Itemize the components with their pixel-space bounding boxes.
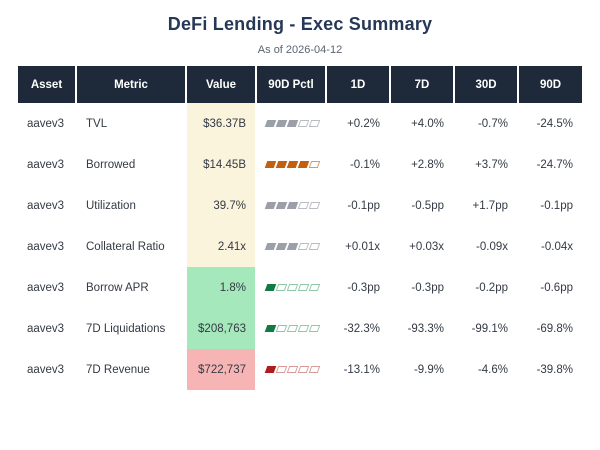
cell-delta-1d: -0.3pp (326, 267, 390, 308)
cell-value: 2.41x (186, 226, 256, 267)
cell-asset: aavev3 (18, 349, 76, 390)
percentile-box-filled (287, 243, 299, 250)
cell-asset: aavev3 (18, 144, 76, 185)
table-header-row: AssetMetricValue90D Pctl1D7D30D90D (18, 66, 582, 103)
percentile-box-empty (276, 325, 288, 332)
percentile-box-filled (265, 284, 277, 291)
cell-metric: Collateral Ratio (76, 226, 186, 267)
table-row: aavev3TVL$36.37B+0.2%+4.0%-0.7%-24.5% (18, 103, 582, 144)
cell-delta-30d: -99.1% (454, 308, 518, 349)
cell-delta-90d: -69.8% (518, 308, 582, 349)
cell-value: $36.37B (186, 103, 256, 144)
cell-delta-1d: -0.1% (326, 144, 390, 185)
cell-delta-90d: -0.1pp (518, 185, 582, 226)
cell-value: $722,737 (186, 349, 256, 390)
cell-value: 1.8% (186, 267, 256, 308)
percentile-box-empty (298, 325, 310, 332)
table-row: aavev3Borrow APR1.8%-0.3pp-0.3pp-0.2pp-0… (18, 267, 582, 308)
percentile-meter-icon (266, 161, 319, 168)
cell-value: $14.45B (186, 144, 256, 185)
cell-delta-30d: -4.6% (454, 349, 518, 390)
column-header-1d[interactable]: 1D (326, 66, 390, 103)
cell-delta-90d: -39.8% (518, 349, 582, 390)
cell-delta-7d: -93.3% (390, 308, 454, 349)
percentile-meter-icon (266, 284, 319, 291)
percentile-box-filled (276, 202, 288, 209)
percentile-box-empty (298, 366, 310, 373)
percentile-meter-icon (266, 202, 319, 209)
cell-percentile (256, 226, 326, 267)
cell-value: $208,763 (186, 308, 256, 349)
cell-percentile (256, 144, 326, 185)
cell-delta-7d: +4.0% (390, 103, 454, 144)
percentile-box-filled (287, 161, 299, 168)
cell-delta-30d: -0.09x (454, 226, 518, 267)
column-header-30d[interactable]: 30D (454, 66, 518, 103)
report-page: amberdata DeFi Lending - Exec Summary As… (0, 0, 600, 450)
percentile-box-empty (287, 284, 299, 291)
cell-delta-30d: +3.7% (454, 144, 518, 185)
cell-percentile (256, 267, 326, 308)
percentile-box-empty (309, 202, 321, 209)
cell-asset: aavev3 (18, 308, 76, 349)
column-header-90d[interactable]: 90D (518, 66, 582, 103)
cell-metric: 7D Liquidations (76, 308, 186, 349)
column-header-value[interactable]: Value (186, 66, 256, 103)
percentile-box-empty (298, 120, 310, 127)
column-header-metric[interactable]: Metric (76, 66, 186, 103)
percentile-box-empty (298, 202, 310, 209)
cell-metric: 7D Revenue (76, 349, 186, 390)
table-body: aavev3TVL$36.37B+0.2%+4.0%-0.7%-24.5%aav… (18, 103, 582, 390)
column-header-7d[interactable]: 7D (390, 66, 454, 103)
percentile-box-empty (309, 366, 321, 373)
percentile-box-filled (276, 120, 288, 127)
percentile-box-filled (287, 202, 299, 209)
cell-metric: Borrow APR (76, 267, 186, 308)
cell-delta-90d: -24.5% (518, 103, 582, 144)
table-row: aavev3Collateral Ratio2.41x+0.01x+0.03x-… (18, 226, 582, 267)
cell-percentile (256, 308, 326, 349)
percentile-meter-icon (266, 325, 319, 332)
percentile-box-empty (276, 366, 288, 373)
page-title: DeFi Lending - Exec Summary (0, 0, 600, 35)
cell-delta-1d: +0.2% (326, 103, 390, 144)
percentile-box-filled (265, 202, 277, 209)
percentile-meter-icon (266, 243, 319, 250)
percentile-box-filled (276, 243, 288, 250)
percentile-box-filled (265, 366, 277, 373)
percentile-box-empty (309, 243, 321, 250)
cell-delta-7d: -0.3pp (390, 267, 454, 308)
summary-table: AssetMetricValue90D Pctl1D7D30D90D aavev… (18, 66, 582, 390)
cell-metric: Utilization (76, 185, 186, 226)
cell-delta-1d: -32.3% (326, 308, 390, 349)
summary-table-container: AssetMetricValue90D Pctl1D7D30D90D aavev… (18, 66, 582, 390)
cell-delta-90d: -0.04x (518, 226, 582, 267)
cell-delta-7d: +0.03x (390, 226, 454, 267)
percentile-box-filled (298, 161, 310, 168)
cell-delta-1d: +0.01x (326, 226, 390, 267)
cell-metric: Borrowed (76, 144, 186, 185)
table-row: aavev37D Liquidations$208,763-32.3%-93.3… (18, 308, 582, 349)
table-row: aavev3Borrowed$14.45B-0.1%+2.8%+3.7%-24.… (18, 144, 582, 185)
percentile-meter-icon (266, 366, 319, 373)
column-header-90d-pctl[interactable]: 90D Pctl (256, 66, 326, 103)
table-row: aavev3Utilization39.7%-0.1pp-0.5pp+1.7pp… (18, 185, 582, 226)
cell-delta-90d: -24.7% (518, 144, 582, 185)
cell-asset: aavev3 (18, 103, 76, 144)
cell-delta-30d: -0.2pp (454, 267, 518, 308)
percentile-box-filled (265, 120, 277, 127)
percentile-box-empty (309, 325, 321, 332)
cell-delta-7d: +2.8% (390, 144, 454, 185)
percentile-box-empty (276, 284, 288, 291)
cell-percentile (256, 185, 326, 226)
cell-asset: aavev3 (18, 185, 76, 226)
percentile-box-empty (309, 161, 321, 168)
percentile-box-empty (298, 284, 310, 291)
percentile-box-filled (287, 120, 299, 127)
as-of-subtitle: As of 2026-04-12 (0, 35, 600, 56)
table-row: aavev37D Revenue$722,737-13.1%-9.9%-4.6%… (18, 349, 582, 390)
cell-asset: aavev3 (18, 267, 76, 308)
percentile-box-filled (265, 243, 277, 250)
cell-value: 39.7% (186, 185, 256, 226)
cell-delta-7d: -0.5pp (390, 185, 454, 226)
percentile-box-filled (265, 325, 277, 332)
cell-delta-30d: -0.7% (454, 103, 518, 144)
percentile-meter-icon (266, 120, 319, 127)
percentile-box-empty (298, 243, 310, 250)
column-header-asset[interactable]: Asset (18, 66, 76, 103)
percentile-box-empty (287, 325, 299, 332)
cell-delta-90d: -0.6pp (518, 267, 582, 308)
cell-asset: aavev3 (18, 226, 76, 267)
percentile-box-empty (287, 366, 299, 373)
cell-delta-1d: -13.1% (326, 349, 390, 390)
cell-delta-1d: -0.1pp (326, 185, 390, 226)
percentile-box-filled (276, 161, 288, 168)
cell-delta-7d: -9.9% (390, 349, 454, 390)
percentile-box-empty (309, 284, 321, 291)
percentile-box-filled (265, 161, 277, 168)
cell-metric: TVL (76, 103, 186, 144)
cell-percentile (256, 349, 326, 390)
cell-delta-30d: +1.7pp (454, 185, 518, 226)
percentile-box-empty (309, 120, 321, 127)
cell-percentile (256, 103, 326, 144)
